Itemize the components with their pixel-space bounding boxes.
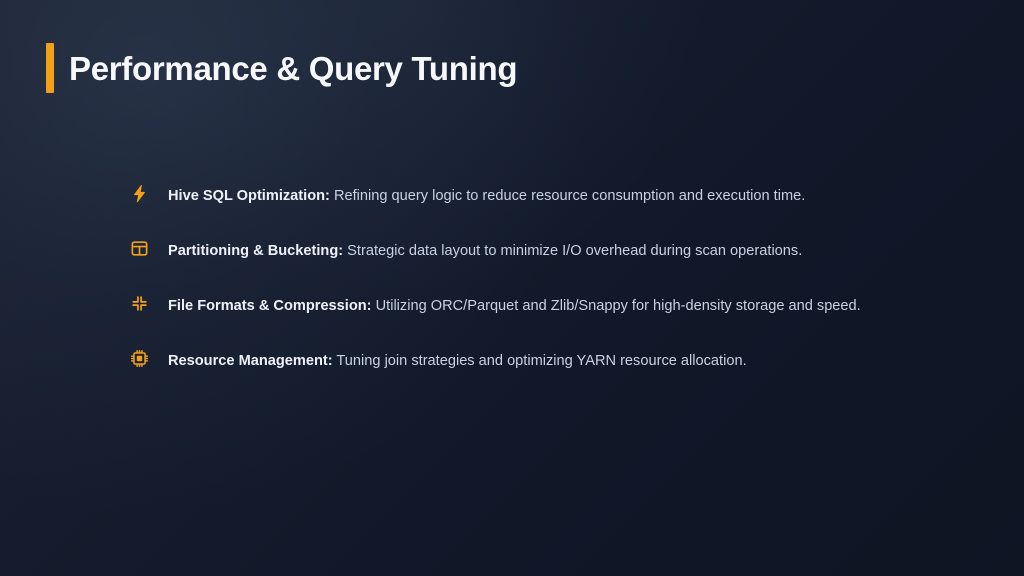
bullet-list: Hive SQL Optimization: Refining query lo… <box>128 182 928 375</box>
slide-canvas: Performance & Query Tuning Hive SQL Opti… <box>0 0 1024 576</box>
list-item-text: Resource Management: Tuning join strateg… <box>168 347 747 375</box>
list-item-lead: Hive SQL Optimization: <box>168 188 330 204</box>
list-item: Partitioning & Bucketing: Strategic data… <box>128 237 928 265</box>
slide-title-row: Performance & Query Tuning <box>46 42 517 94</box>
table-grid-icon <box>128 237 150 259</box>
list-item-lead: Partitioning & Bucketing: <box>168 243 343 259</box>
page-title: Performance & Query Tuning <box>69 52 517 85</box>
compress-arrows-icon <box>128 292 150 314</box>
list-item: Hive SQL Optimization: Refining query lo… <box>128 182 928 210</box>
list-item-lead: File Formats & Compression: <box>168 298 372 314</box>
list-item-text: File Formats & Compression: Utilizing OR… <box>168 292 861 320</box>
list-item: Resource Management: Tuning join strateg… <box>128 347 928 375</box>
list-item: File Formats & Compression: Utilizing OR… <box>128 292 928 320</box>
list-item-body: Utilizing ORC/Parquet and Zlib/Snappy fo… <box>372 298 861 314</box>
lightning-bolt-icon <box>128 182 150 204</box>
list-item-text: Partitioning & Bucketing: Strategic data… <box>168 237 802 265</box>
list-item-text: Hive SQL Optimization: Refining query lo… <box>168 182 805 210</box>
title-accent-bar <box>46 43 54 93</box>
list-item-lead: Resource Management: <box>168 353 333 369</box>
list-item-body: Refining query logic to reduce resource … <box>330 188 805 204</box>
cpu-chip-icon <box>128 347 150 369</box>
list-item-body: Strategic data layout to minimize I/O ov… <box>343 243 802 259</box>
list-item-body: Tuning join strategies and optimizing YA… <box>333 353 747 369</box>
